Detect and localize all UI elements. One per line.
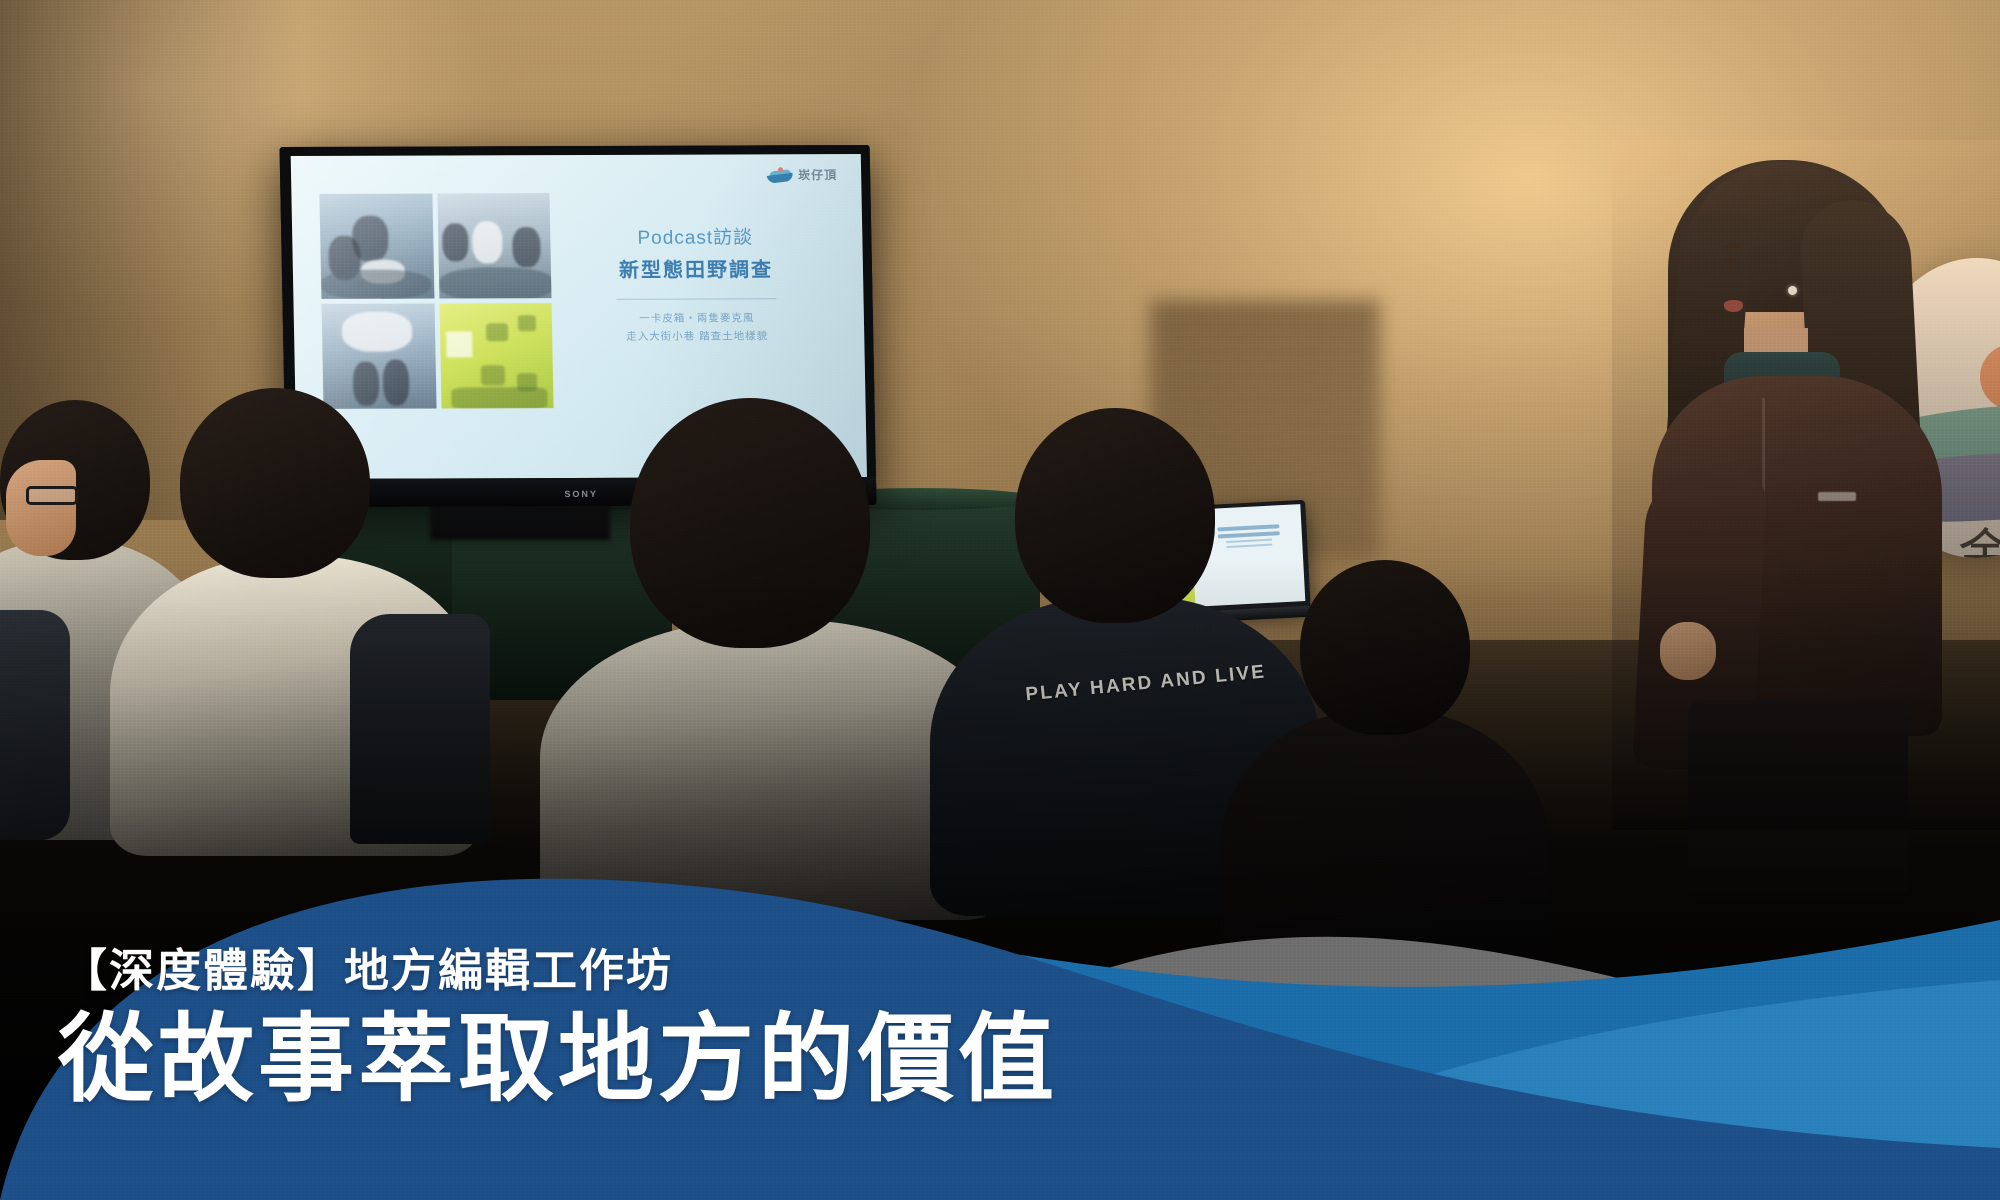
presenter-eye — [1724, 258, 1736, 263]
slide-divider — [616, 298, 776, 300]
glasses-icon — [26, 486, 78, 505]
wave-banner — [0, 680, 2000, 1200]
audience-head — [630, 398, 870, 648]
slide-photo-4 — [439, 303, 554, 408]
slide-photo-grid — [319, 193, 553, 409]
jacket-brand-logo — [1818, 492, 1856, 501]
audience-head — [180, 388, 370, 578]
banner-kicker: 【深度體驗】地方編輯工作坊 — [62, 944, 1458, 998]
presenter-mouth — [1724, 300, 1743, 312]
earring-icon — [1788, 286, 1797, 295]
presenter-hand — [1660, 622, 1716, 680]
slide-logo-text: 崁仔頂 — [798, 166, 837, 183]
slide-photo-2 — [437, 193, 552, 298]
slide-caption-line-2: 走入大街小巷 踏查土地樣貌 — [572, 327, 822, 346]
brand-wave-icon — [767, 167, 793, 183]
slide-photo-1 — [319, 194, 434, 299]
banner-text-block: 【深度體驗】地方編輯工作坊 從故事萃取地方的價值 — [58, 944, 1458, 1112]
screenshot-canvas: 金 崁仔頂 — [0, 0, 2000, 1200]
audience-head — [1015, 408, 1215, 623]
slide-text-block: Podcast訪談 新型態田野調查 一卡皮箱・兩隻麥克風 走入大街小巷 踏查土地… — [570, 224, 822, 346]
banner-title: 從故事萃取地方的價值 — [58, 1008, 1458, 1112]
slide-heading: Podcast訪談 — [570, 224, 821, 253]
slide-logo: 崁仔頂 — [767, 166, 837, 183]
audience-face — [6, 460, 76, 556]
wave-banner-svg — [0, 680, 2000, 1200]
slide-caption-line-1: 一卡皮箱・兩隻麥克風 — [572, 309, 822, 328]
slide-subheading: 新型態田野調查 — [571, 255, 822, 286]
